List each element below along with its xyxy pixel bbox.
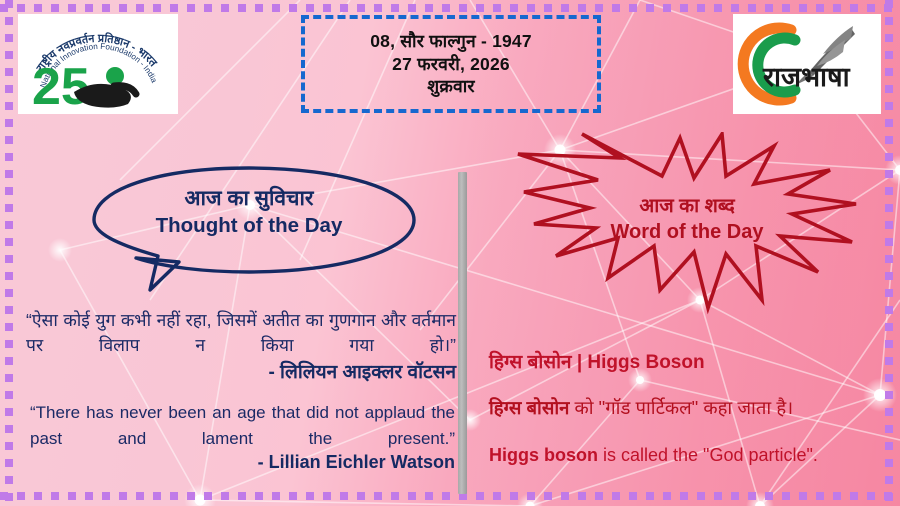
word-sentence-hindi-rest: को "गॉड पार्टिकल" कहा जाता है।	[569, 397, 793, 418]
word-term: हिग्स बोसोन | Higgs Boson	[489, 348, 705, 374]
rajbhasha-logo: राजभाषा	[733, 14, 881, 114]
word-sentence-english-rest: is called the "God particle".	[598, 445, 818, 465]
frame-border-top	[0, 4, 900, 12]
frame-border-right	[885, 0, 893, 506]
svg-text:राजभाषा: राजभाषा	[762, 62, 851, 92]
column-divider	[458, 172, 467, 494]
thought-of-the-day-bubble: आज का सुविचार Thought of the Day	[84, 164, 434, 296]
date-box: 08, सौर फाल्गुन - 1947 27 फरवरी, 2026 शु…	[301, 15, 601, 113]
date-line-solar: 08, सौर फाल्गुन - 1947	[370, 31, 532, 52]
word-sentence-english: Higgs boson is called the "God particle"…	[489, 445, 818, 466]
word-of-the-day-starburst: आज का शब्द Word of the Day	[512, 132, 862, 324]
date-line-weekday: शुक्रवार	[427, 76, 475, 97]
quote-english: “There has never been an age that did no…	[30, 400, 455, 451]
frame-border-bottom	[0, 492, 900, 500]
date-line-gregorian: 27 फरवरी, 2026	[392, 54, 510, 75]
quote-hindi: “ऐसा कोई युग कभी नहीं रहा, जिसमें अतीत क…	[26, 308, 456, 359]
frame-border-left	[5, 0, 13, 506]
svg-text:25: 25	[32, 58, 90, 114]
word-sentence-english-bold: Higgs boson	[489, 445, 598, 465]
quote-hindi-author: - लिलियन आइक्लर वॉटसन	[26, 358, 456, 384]
word-sentence-hindi-bold: हिग्स बोसोन	[489, 397, 569, 418]
daily-hindi-word-poster: राष्ट्रीय नवप्रवर्तन प्रतिष्ठान - भारत N…	[0, 0, 900, 506]
national-innovation-foundation-logo: राष्ट्रीय नवप्रवर्तन प्रतिष्ठान - भारत N…	[18, 14, 178, 114]
word-sentence-hindi: हिग्स बोसोन को "गॉड पार्टिकल" कहा जाता ह…	[489, 395, 793, 420]
quote-english-author: - Lillian Eichler Watson	[30, 452, 455, 473]
